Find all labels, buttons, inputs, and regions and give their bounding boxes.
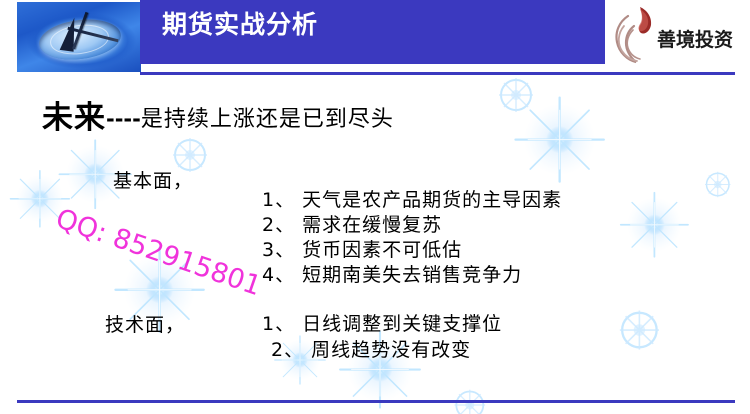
presentation-slide: 期货实战分析 善境投资 未来----是持续上涨还是已到尽头 基本面， 1、 天气… — [0, 0, 750, 414]
headline: 未来----是持续上涨还是已到尽头 — [42, 103, 394, 134]
header-divider-rule — [140, 72, 735, 75]
title-bar: 期货实战分析 — [140, 0, 605, 64]
list-item: 3、 货币因素不可低估 — [262, 238, 562, 263]
section-label-fundamental: 基本面， — [113, 166, 193, 193]
section-label-technical: 技术面， — [105, 310, 185, 337]
headline-emphasis: 未来 — [42, 100, 106, 136]
list-item: 4、 短期南美失去销售竞争力 — [262, 263, 562, 288]
technical-item-list: 1、 日线调整到关键支撑位 2、 周线趋势没有改变 — [262, 311, 502, 363]
company-logo: 善境投资 — [605, 0, 750, 72]
fundamental-item-list: 1、 天气是农产品期货的主导因素 2、 需求在缓慢复苏 3、 货币因素不可低估 … — [262, 188, 562, 288]
list-item: 1、 天气是农产品期货的主导因素 — [262, 188, 562, 213]
slide-header: 期货实战分析 善境投资 — [0, 0, 750, 75]
list-item: 2、 需求在缓慢复苏 — [262, 213, 562, 238]
headline-rest: 是持续上涨还是已到尽头 — [141, 107, 394, 132]
slide-title: 期货实战分析 — [162, 12, 318, 37]
list-item: 1、 日线调整到关键支撑位 — [262, 311, 502, 337]
list-item: 2、 周线趋势没有改变 — [262, 337, 502, 363]
company-logo-text: 善境投资 — [657, 25, 733, 52]
compass-sundial-image — [17, 2, 141, 72]
headline-dashes: ---- — [106, 107, 141, 131]
shanjing-flame-logo-icon — [610, 4, 658, 66]
footer-divider-rule — [17, 400, 735, 403]
